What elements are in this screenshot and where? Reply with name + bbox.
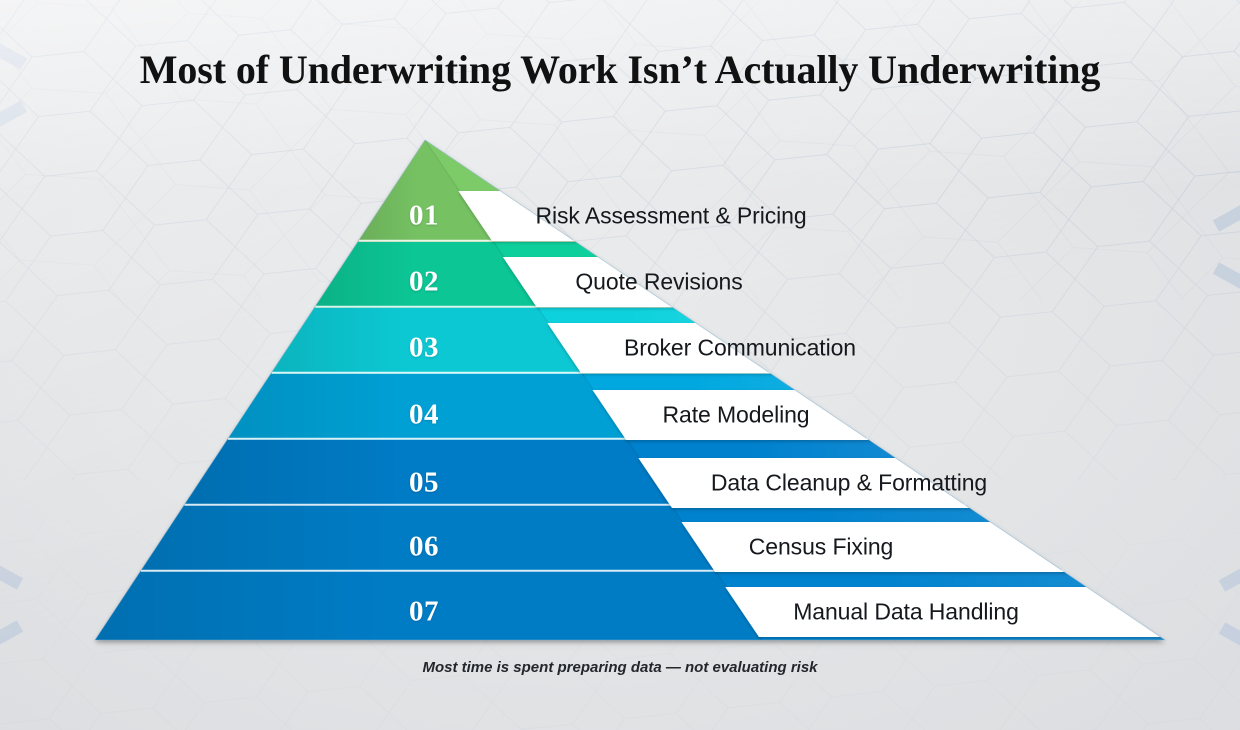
level-number-07: 07 [409,596,439,629]
pyramid-chart [0,0,1240,730]
infographic-canvas: Most of Underwriting Work Isn’t Actually… [0,0,1240,730]
level-label-02: Quote Revisions [575,269,742,296]
level-number-03: 03 [409,332,439,365]
footnote-text: Most time is spent preparing data — not … [0,659,1240,676]
level-label-03: Broker Communication [624,335,856,362]
level-label-06: Census Fixing [749,534,893,561]
level-number-06: 06 [409,531,439,564]
level-label-04: Rate Modeling [662,402,809,429]
level-label-05: Data Cleanup & Formatting [711,470,987,497]
level-number-05: 05 [409,467,439,500]
level-label-07: Manual Data Handling [793,599,1019,626]
page-title: Most of Underwriting Work Isn’t Actually… [0,46,1240,93]
level-number-01: 01 [409,200,439,233]
level-number-04: 04 [409,399,439,432]
level-number-02: 02 [409,266,439,299]
level-label-01: Risk Assessment & Pricing [535,203,806,230]
